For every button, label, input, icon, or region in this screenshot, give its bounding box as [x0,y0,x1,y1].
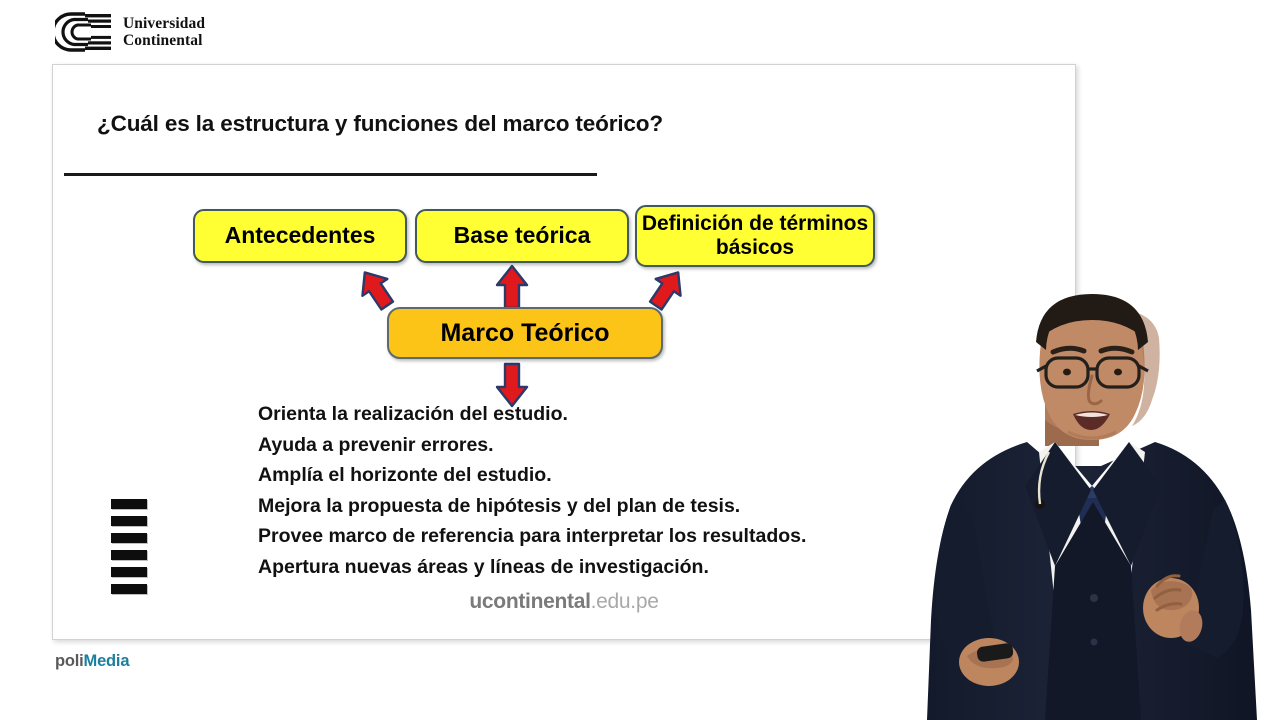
presenter-video-overlay [905,290,1280,720]
functions-list: Orienta la realización del estudio. Ayud… [258,399,806,583]
polimedia-poli: poli [55,652,84,670]
stacked-bar [111,550,147,560]
stacked-bar [111,499,147,509]
stacked-bar [111,533,147,543]
slide-url-bold: ucontinental [469,590,590,613]
screen-root: Universidad Continental ¿Cuál es la estr… [0,0,1280,720]
arrow-up-right-icon [645,266,689,312]
box-definicion-terminos: Definición de términos básicos [635,205,875,267]
brand-line-1: Universidad [123,15,205,32]
box-antecedentes: Antecedentes [193,209,407,263]
list-item: Apertura nuevas áreas y líneas de invest… [258,552,806,583]
list-item: Amplía el horizonte del estudio. [258,460,806,491]
arrow-up-left-icon [355,266,397,312]
university-brand: Universidad Continental [55,12,205,52]
university-brand-text: Universidad Continental [123,15,205,50]
list-item: Provee marco de referencia para interpre… [258,521,806,552]
stacked-bar [111,584,147,594]
slide-url-light: .edu.pe [591,590,659,613]
slide-title: ¿Cuál es la estructura y funciones del m… [97,111,663,137]
brand-line-2: Continental [123,32,205,49]
polimedia-logo: poliMedia [55,652,129,671]
list-item: Ayuda a prevenir errores. [258,430,806,461]
stacked-bar [111,567,147,577]
title-underline [64,173,597,176]
list-item: Mejora la propuesta de hipótesis y del p… [258,491,806,522]
stacked-bar [111,516,147,526]
box-base-teorica: Base teórica [415,209,629,263]
continental-c-logo-icon [55,12,113,52]
stacked-bars-icon [59,499,103,595]
list-item: Orienta la realización del estudio. [258,399,806,430]
presenter-figure [905,290,1280,720]
polimedia-media: Media [84,652,130,670]
arrow-up-icon [493,263,531,311]
box-marco-teorico: Marco Teórico [387,307,663,359]
